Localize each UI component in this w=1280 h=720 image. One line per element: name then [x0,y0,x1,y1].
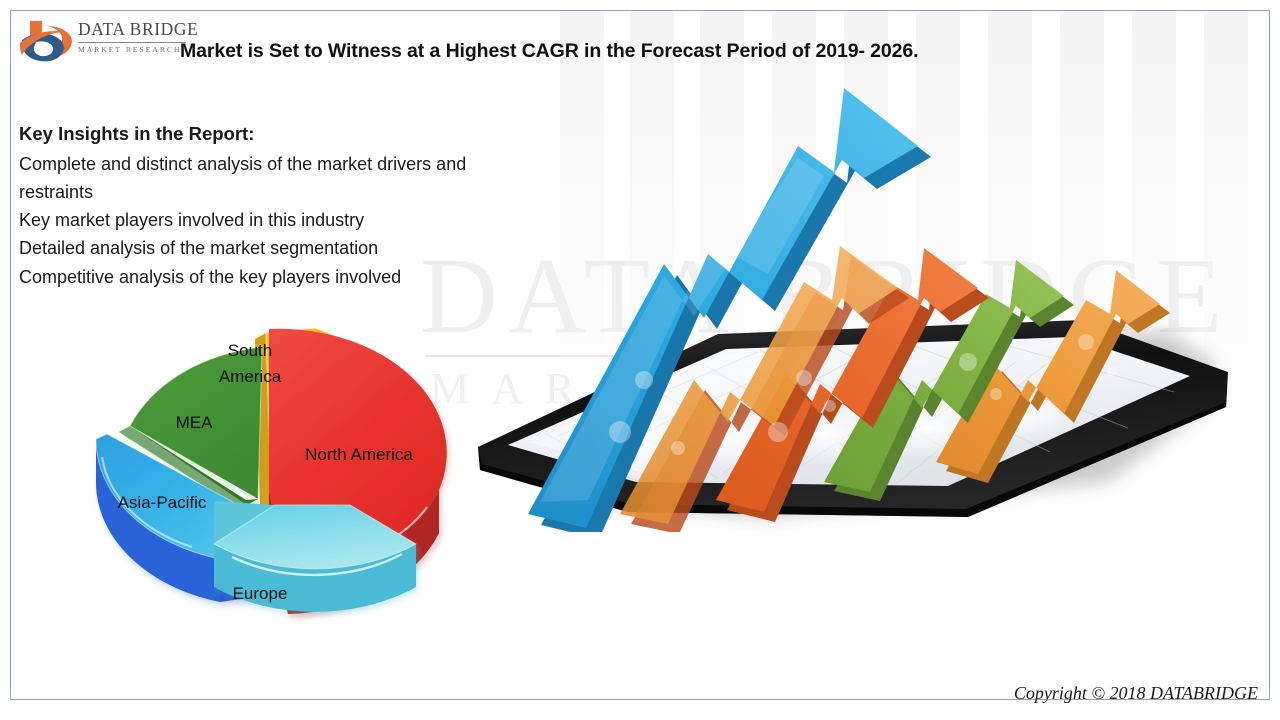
pie-label-europe: Europe [233,584,288,603]
regional-pie-chart: South America South America MEA Asia-Pac… [72,292,472,672]
pie-chart-svg: South America South America MEA Asia-Pac… [72,292,472,672]
data-bridge-b-logo-icon [20,18,74,66]
pie-label-asia-pacific: Asia-Pacific [118,493,207,512]
pie-label-north-america: North America [305,445,413,464]
brand-tagline: MARKET RESEARCH [78,45,188,54]
page-title: Market is Set to Witness at a Highest CA… [180,40,1060,63]
pie-label-south-america: South [228,341,272,360]
brand-name: DATA BRIDGE [78,21,188,39]
brand-logo[interactable]: DATA BRIDGE MARKET RESEARCH [20,16,185,66]
tablet-arrows-svg [468,62,1258,532]
tablet-arrows-graphic [468,62,1258,532]
slide-canvas: DATA BRIDGE MARKET RESEARCH DATA BRIDGE … [0,0,1280,720]
pie-label-south-america-2: America [219,367,282,386]
brand-logo-text: DATA BRIDGE MARKET RESEARCH [78,21,188,54]
copyright-text: Copyright © 2018 DATABRIDGE [1014,683,1258,704]
pie-label-mea: MEA [176,413,214,432]
brand-divider [78,42,186,43]
